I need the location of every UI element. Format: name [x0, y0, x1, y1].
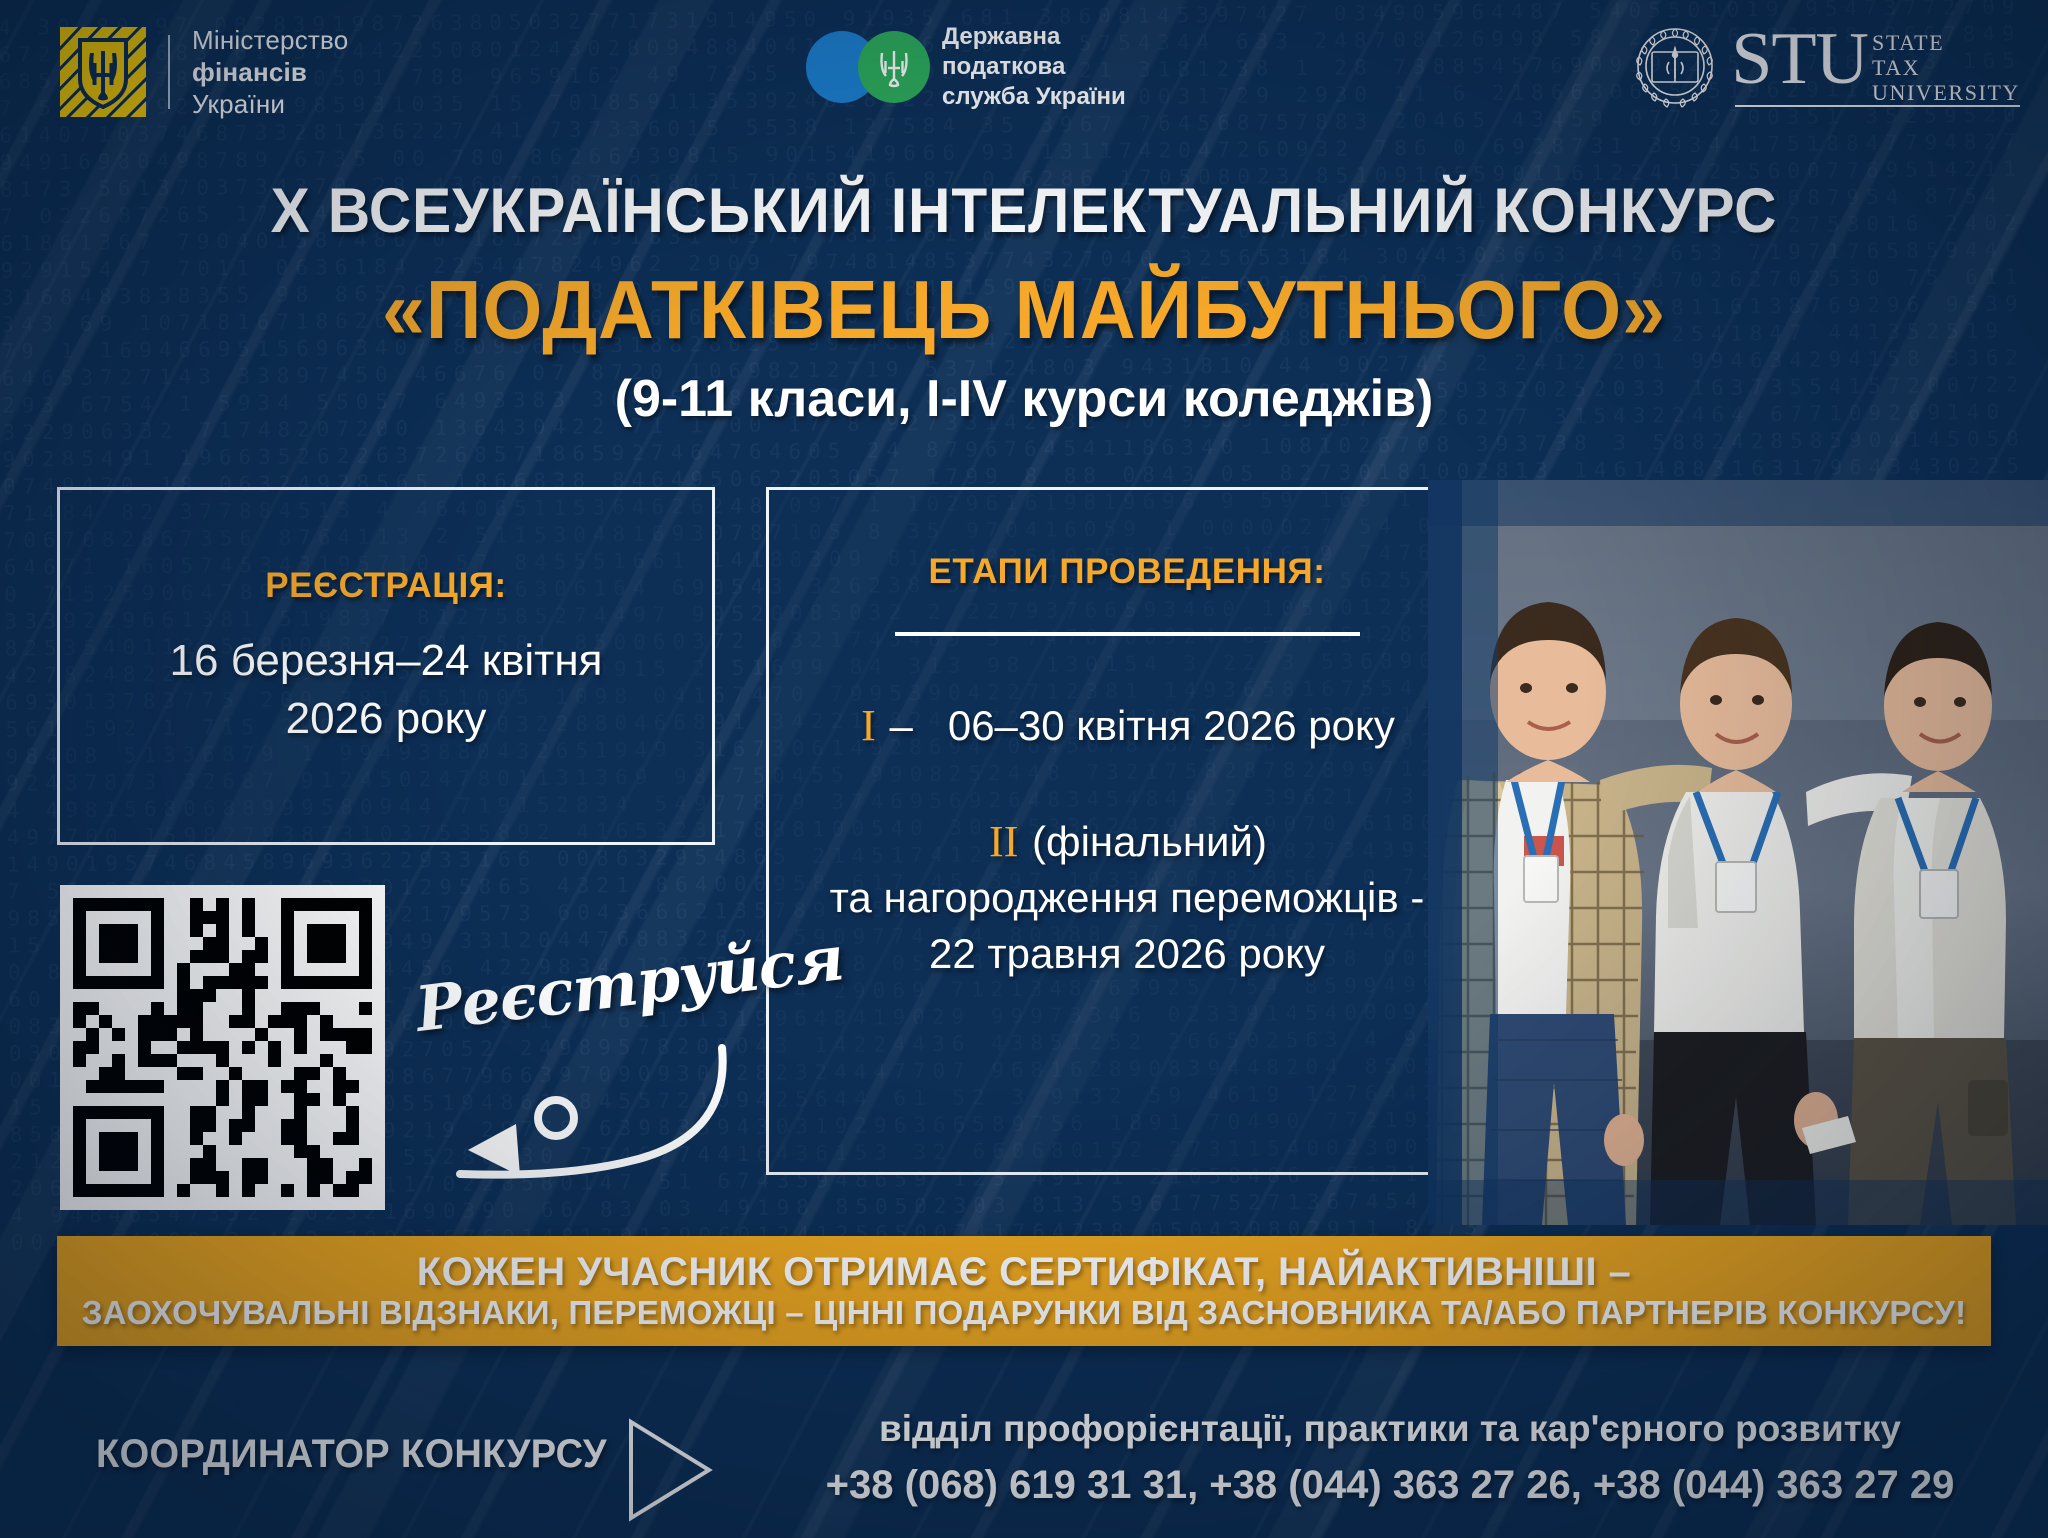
triangle-right-icon	[625, 1418, 715, 1522]
stu-line-1: STATE	[1872, 30, 2020, 55]
stage-1-text: 06–30 квітня 2026 року	[948, 702, 1395, 749]
ministry-line-3: України	[192, 88, 348, 120]
banner-line-2: ЗАОХОЧУВАЛЬНІ ВІДЗНАКИ, ПЕРЕМОЖЦІ – ЦІНН…	[82, 1294, 1967, 1332]
ministry-line-2: фінансів	[192, 57, 307, 87]
registration-dates: 16 березня–24 квітня 2026 року	[60, 632, 712, 748]
registration-heading: РЕЄСТРАЦІЯ:	[60, 566, 712, 606]
coordinator-label: КООРДИНАТОР КОНКУРСУ	[96, 1432, 607, 1477]
stu-abbreviation: STU	[1731, 26, 1868, 92]
dps-label: Державна податкова служба України	[942, 22, 1126, 112]
dps-line-1: Державна	[942, 22, 1126, 52]
dps-green-circle-icon	[858, 31, 930, 103]
stages-heading: ЕТАПИ ПРОВЕДЕННЯ:	[769, 552, 1485, 592]
dps-circles-icon	[806, 28, 930, 106]
logo-header: Міністерство фінансів України	[0, 0, 2048, 128]
registration-dates-line-2: 2026 року	[60, 690, 712, 748]
ministry-label: Міністерство фінансів України	[192, 24, 348, 120]
poster-title-line-1: X ВСЕУКРАЇНСЬКИЙ ІНТЕЛЕКТУАЛЬНИЙ КОНКУРС	[72, 178, 1977, 244]
logo-divider	[168, 35, 170, 109]
banner-line-1: КОЖЕН УЧАСНИК ОТРИМАЄ СЕРТИФІКАТ, НАЙАКТ…	[417, 1250, 1631, 1294]
stage-1-dash: –	[889, 702, 912, 749]
state-tax-service-logo: Державна податкова служба України	[806, 22, 1126, 112]
registration-dates-line-1: 16 березня–24 квітня	[60, 632, 712, 690]
poster-canvas: 4 30 80 97 08283919872638050327717319149…	[0, 0, 2048, 1538]
award-banner: КОЖЕН УЧАСНИК ОТРИМАЄ СЕРТИФІКАТ, НАЙАКТ…	[57, 1236, 1991, 1346]
dps-line-2: податкова	[942, 52, 1126, 82]
stu-line-2: TAX	[1872, 55, 2020, 80]
stage-2-line-2: та нагородження переможців -	[769, 870, 1485, 926]
stu-seal-icon	[1633, 24, 1717, 108]
curved-arrow-left-icon	[370, 1030, 740, 1200]
stu-wordmark: STU STATE TAX UNIVERSITY	[1731, 24, 2020, 105]
ministry-line-1: Міністерство	[192, 24, 348, 56]
stage-2-line-1: II (фінальний)	[769, 814, 1485, 870]
contact-footer: КООРДИНАТОР КОНКУРСУ відділ профорієнтац…	[0, 1370, 2048, 1538]
stages-box: ЕТАПИ ПРОВЕДЕННЯ: I – 06–30 квітня 2026 …	[766, 487, 1488, 1175]
stage-2-numeral: II	[987, 817, 1020, 866]
registration-box: РЕЄСТРАЦІЯ: 16 березня–24 квітня 2026 ро…	[57, 487, 715, 845]
stage-2-line-3: 22 травня 2026 року	[769, 926, 1485, 982]
dps-line-3: служба України	[942, 82, 1126, 112]
state-tax-university-logo: STU STATE TAX UNIVERSITY	[1633, 24, 2020, 108]
phone-numbers[interactable]: +38 (068) 619 31 31, +38 (044) 363 27 26…	[790, 1456, 1990, 1514]
ukraine-coat-of-arms-shield-icon	[60, 27, 146, 117]
stage-item-2: II (фінальний) та нагородження переможці…	[769, 814, 1485, 982]
ministry-of-finance-logo: Міністерство фінансів України	[60, 24, 348, 120]
stage-2-text-a: (фінальний)	[1032, 818, 1267, 865]
students-photo	[1428, 480, 2048, 1225]
stu-line-3: UNIVERSITY	[1872, 80, 2020, 105]
contact-details: відділ профорієнтації, практики та кар'є…	[790, 1402, 1990, 1514]
stage-item-1: I – 06–30 квітня 2026 року	[769, 698, 1485, 754]
qr-code-icon[interactable]	[60, 885, 385, 1210]
stages-divider	[895, 632, 1360, 636]
poster-subtitle: (9-11 класи, I-IV курси коледжів)	[0, 370, 2048, 428]
stu-underline	[1735, 105, 2020, 107]
department-name: відділ профорієнтації, практики та кар'є…	[790, 1402, 1990, 1456]
stu-full-name: STATE TAX UNIVERSITY	[1872, 30, 2020, 105]
poster-title-line-2: «ПОДАТКІВЕЦЬ МАЙБУТНЬОГО»	[72, 266, 1977, 354]
stage-1-numeral: I	[859, 701, 878, 750]
